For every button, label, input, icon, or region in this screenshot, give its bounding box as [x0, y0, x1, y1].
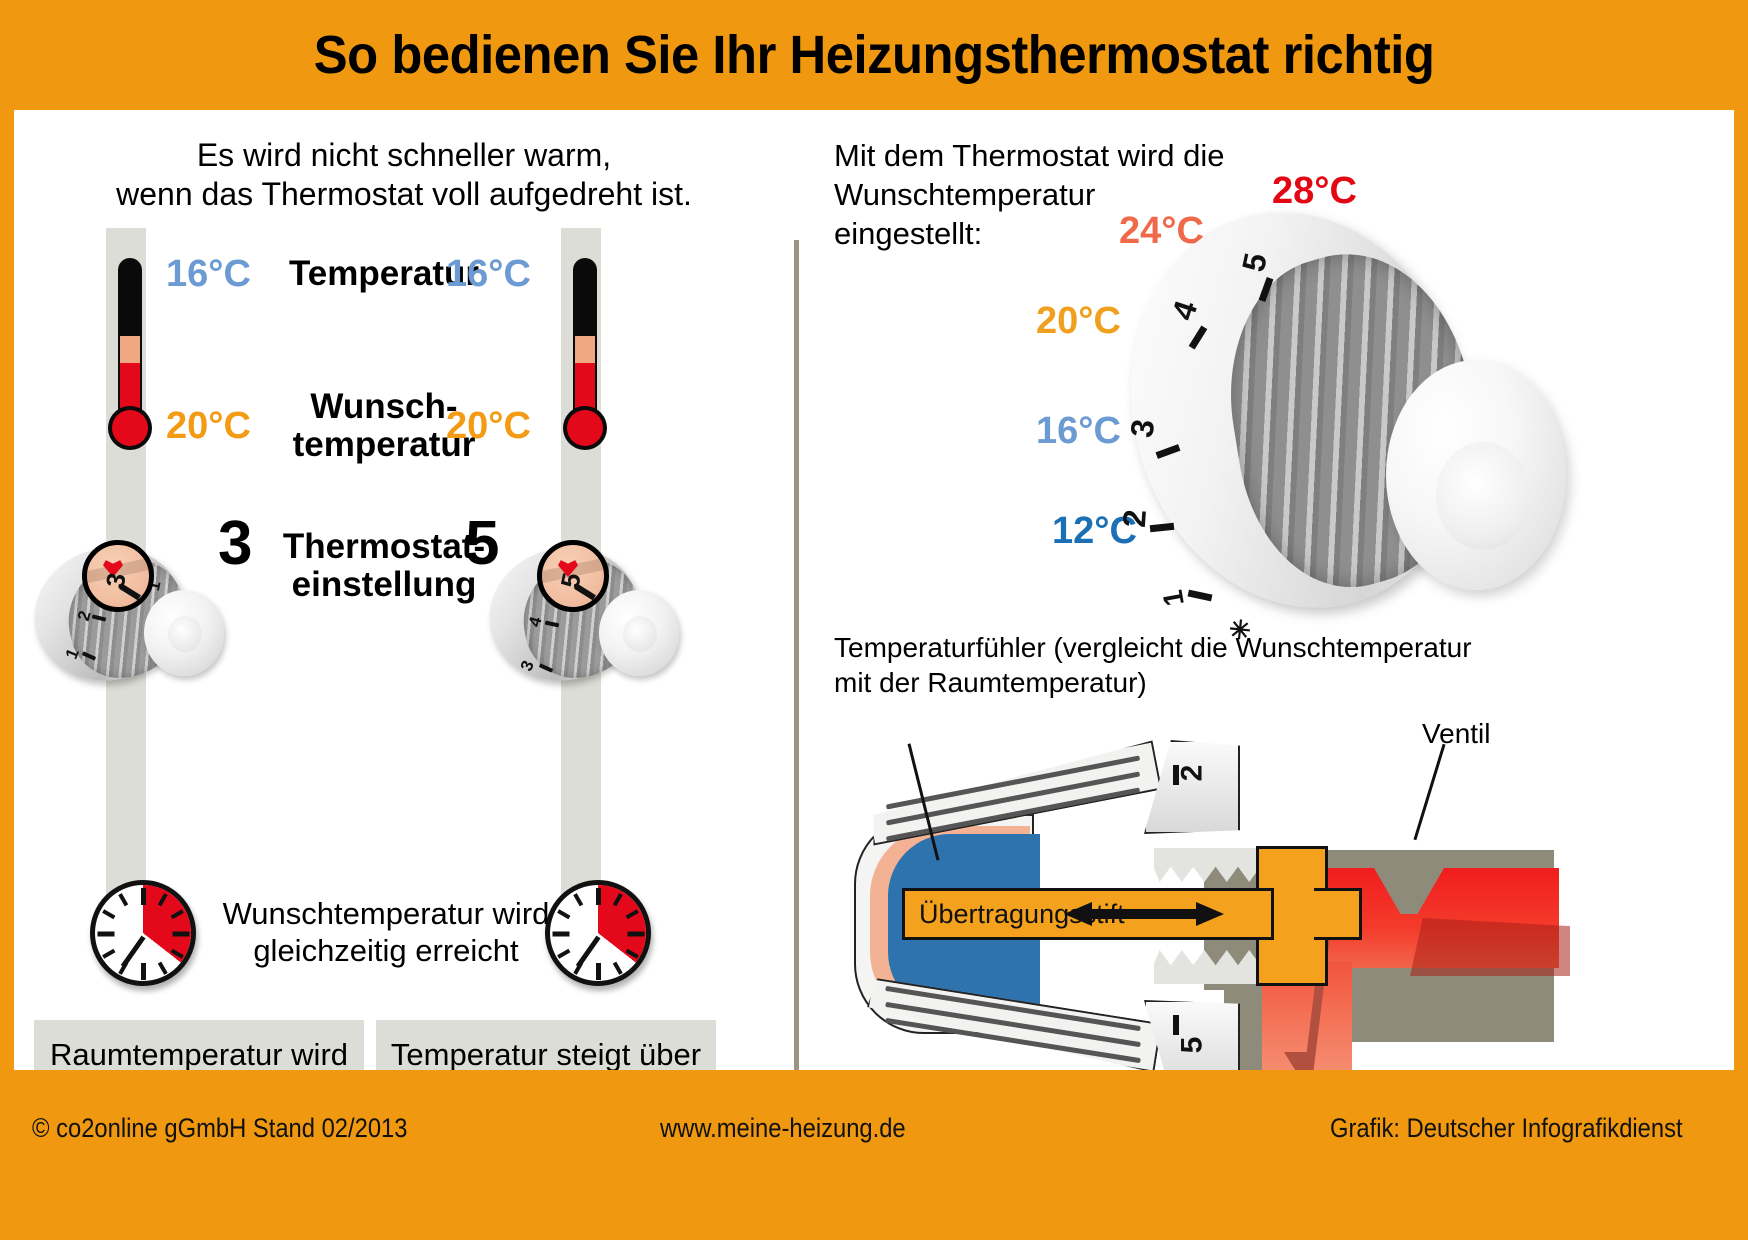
- footer-credit: Grafik: Deutscher Infografikdienst: [1330, 1113, 1683, 1144]
- simultaneous-note-line2: gleichzeitig erreicht: [206, 932, 566, 969]
- knob-cap: [599, 590, 679, 676]
- valve-housing-base: [1339, 980, 1554, 1042]
- infographic-root: So bedienen Sie Ihr Heizungsthermostat r…: [0, 0, 1748, 1240]
- footer-copyright: © co2online gGmbH Stand 02/2013: [32, 1113, 407, 1144]
- sensor-fin-mark-2: 2: [1175, 765, 1209, 782]
- thermometer-right: [563, 258, 607, 458]
- clock-tick: [141, 888, 146, 905]
- valve-plunger-neck: [1314, 888, 1362, 940]
- left-case-target: 20°C: [166, 405, 251, 448]
- simultaneous-note: Wunschtemperatur wird gleichzeitig errei…: [206, 895, 566, 969]
- clock-tick: [97, 932, 114, 937]
- footer-url[interactable]: www.meine-heizung.de: [660, 1113, 906, 1144]
- dial-mark-1: 1: [1157, 588, 1191, 609]
- sensor-note: Temperaturfühler (vergleicht die Wunscht…: [834, 630, 1554, 700]
- page-title: So bedienen Sie Ihr Heizungsthermostat r…: [314, 24, 1435, 86]
- footer-bar: © co2online gGmbH Stand 02/2013 www.mein…: [0, 1070, 1748, 1240]
- left-intro-line1: Es wird nicht schneller warm,: [54, 136, 754, 175]
- dial-cap: [1386, 360, 1566, 590]
- clock-tick: [627, 932, 644, 937]
- dial-mark-2: 2: [1116, 508, 1154, 528]
- sensor-note-line1: Temperaturfühler (vergleicht die Wunscht…: [834, 630, 1554, 665]
- thermometer-bulb: [567, 410, 603, 446]
- simultaneous-note-line1: Wunschtemperatur wird: [206, 895, 566, 932]
- right-case-temperature: 16°C: [446, 253, 531, 296]
- knob-cap: [144, 590, 224, 676]
- clock-tick: [596, 963, 601, 980]
- dial-tick-2: [1150, 523, 1175, 532]
- sensor-fin-tag-top: [1144, 740, 1240, 834]
- left-intro-line2: wenn das Thermostat voll aufgedreht ist.: [54, 175, 754, 214]
- knob-magnifier-left: 3: [82, 540, 154, 612]
- thermometer-bulb: [112, 410, 148, 446]
- clock-tick: [172, 932, 189, 937]
- thermostat-dial-large[interactable]: 5 4 3 2 1 ✳: [1134, 210, 1634, 630]
- dial-temp-28: 28°C: [1272, 170, 1357, 213]
- sensor-note-line2: mit der Raumtemperatur): [834, 665, 1554, 700]
- double-arrow-icon: [1064, 900, 1224, 928]
- thermometer-left: [108, 258, 152, 458]
- sensor-fin-tick-bottom: [1173, 1015, 1179, 1035]
- valve-diagram: 2 5 Übertragungsstift: [814, 700, 1634, 1100]
- dial-tick-1: [1188, 590, 1213, 602]
- content-canvas: Es wird nicht schneller warm, wenn das T…: [14, 110, 1734, 1070]
- knob-magnifier-right: 5: [537, 540, 609, 612]
- thermostat-knob-right[interactable]: 3 4 5: [489, 528, 689, 688]
- header-bar: So bedienen Sie Ihr Heizungsthermostat r…: [0, 0, 1748, 110]
- right-case-target: 20°C: [446, 405, 531, 448]
- thermostat-knob-left[interactable]: 1 2 1 3: [34, 528, 234, 688]
- clock-tick: [141, 963, 146, 980]
- panel-divider: [794, 240, 799, 1160]
- dial-mark-3: 3: [1123, 417, 1162, 440]
- left-panel-intro: Es wird nicht schneller warm, wenn das T…: [54, 136, 754, 214]
- dial-temp-20: 20°C: [1036, 300, 1121, 343]
- clock-left: [90, 880, 196, 986]
- right-intro-line2: Wunschtemperatur: [834, 175, 1254, 214]
- outcome-right-line1: Temperatur steigt über: [376, 1036, 716, 1074]
- water-shadow: [1410, 918, 1570, 976]
- dial-temp-16: 16°C: [1036, 410, 1121, 453]
- outcome-left-line1: Raumtemperatur wird: [34, 1036, 364, 1074]
- clock-tick: [596, 888, 601, 905]
- sensor-fin-mark-5: 5: [1175, 1037, 1209, 1054]
- left-case-temperature: 16°C: [166, 253, 251, 296]
- right-intro-line1: Mit dem Thermostat wird die: [834, 136, 1254, 175]
- sensor-fin-tick-top: [1173, 765, 1179, 785]
- valve-leader-line: [1413, 744, 1445, 841]
